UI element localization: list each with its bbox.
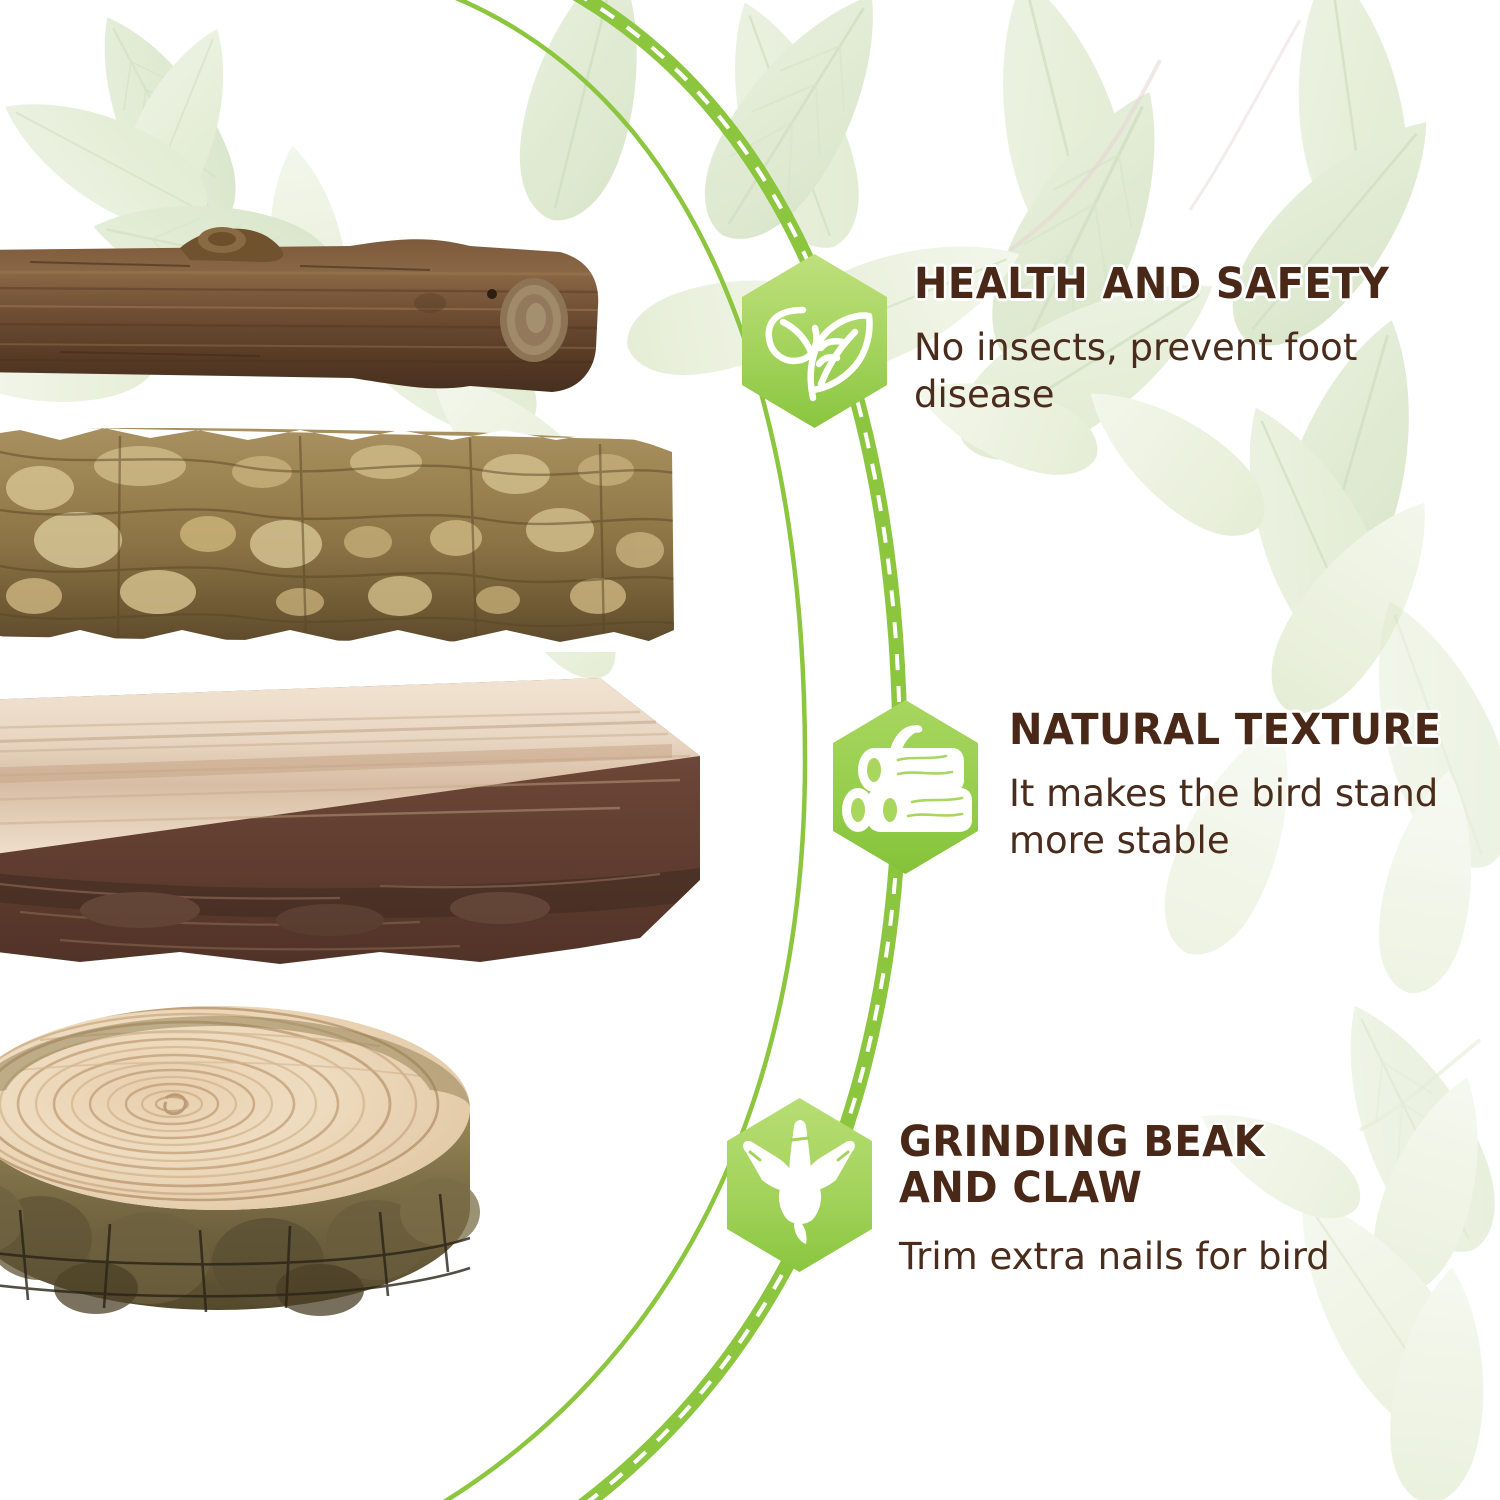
feature-title: GRINDING BEAK AND CLAW xyxy=(899,1120,1300,1211)
badge-grinding-beak-and-claw[interactable] xyxy=(722,1096,877,1274)
feature-natural-texture: NATURAL TEXTURE It makes the bird stand … xyxy=(828,698,1474,876)
feature-description: Trim extra nails for bird xyxy=(899,1233,1330,1280)
feature-text-block: HEALTH AND SAFETY No insects, prevent fo… xyxy=(914,252,1425,418)
feature-description: It makes the bird stand more stable xyxy=(1009,770,1449,865)
feature-text-block: GRINDING BEAK AND CLAW Trim extra nails … xyxy=(899,1096,1330,1281)
feature-title: HEALTH AND SAFETY xyxy=(914,262,1389,308)
feature-grinding-beak-and-claw: GRINDING BEAK AND CLAW Trim extra nails … xyxy=(722,1096,1330,1281)
feature-health-and-safety: HEALTH AND SAFETY No insects, prevent fo… xyxy=(737,252,1425,430)
feature-text-block: NATURAL TEXTURE It makes the bird stand … xyxy=(1009,698,1474,864)
product-bark-log xyxy=(0,426,680,652)
feature-title: NATURAL TEXTURE xyxy=(1009,708,1441,754)
badge-natural-texture[interactable] xyxy=(828,698,983,876)
product-branch-perch xyxy=(0,227,600,392)
feature-description: No insects, prevent foot disease xyxy=(914,324,1384,419)
infographic-canvas: HEALTH AND SAFETY No insects, prevent fo… xyxy=(0,0,1500,1500)
badge-health-and-safety[interactable] xyxy=(737,252,892,430)
product-flat-plank xyxy=(0,678,700,1000)
product-wood-slice xyxy=(0,1006,480,1316)
